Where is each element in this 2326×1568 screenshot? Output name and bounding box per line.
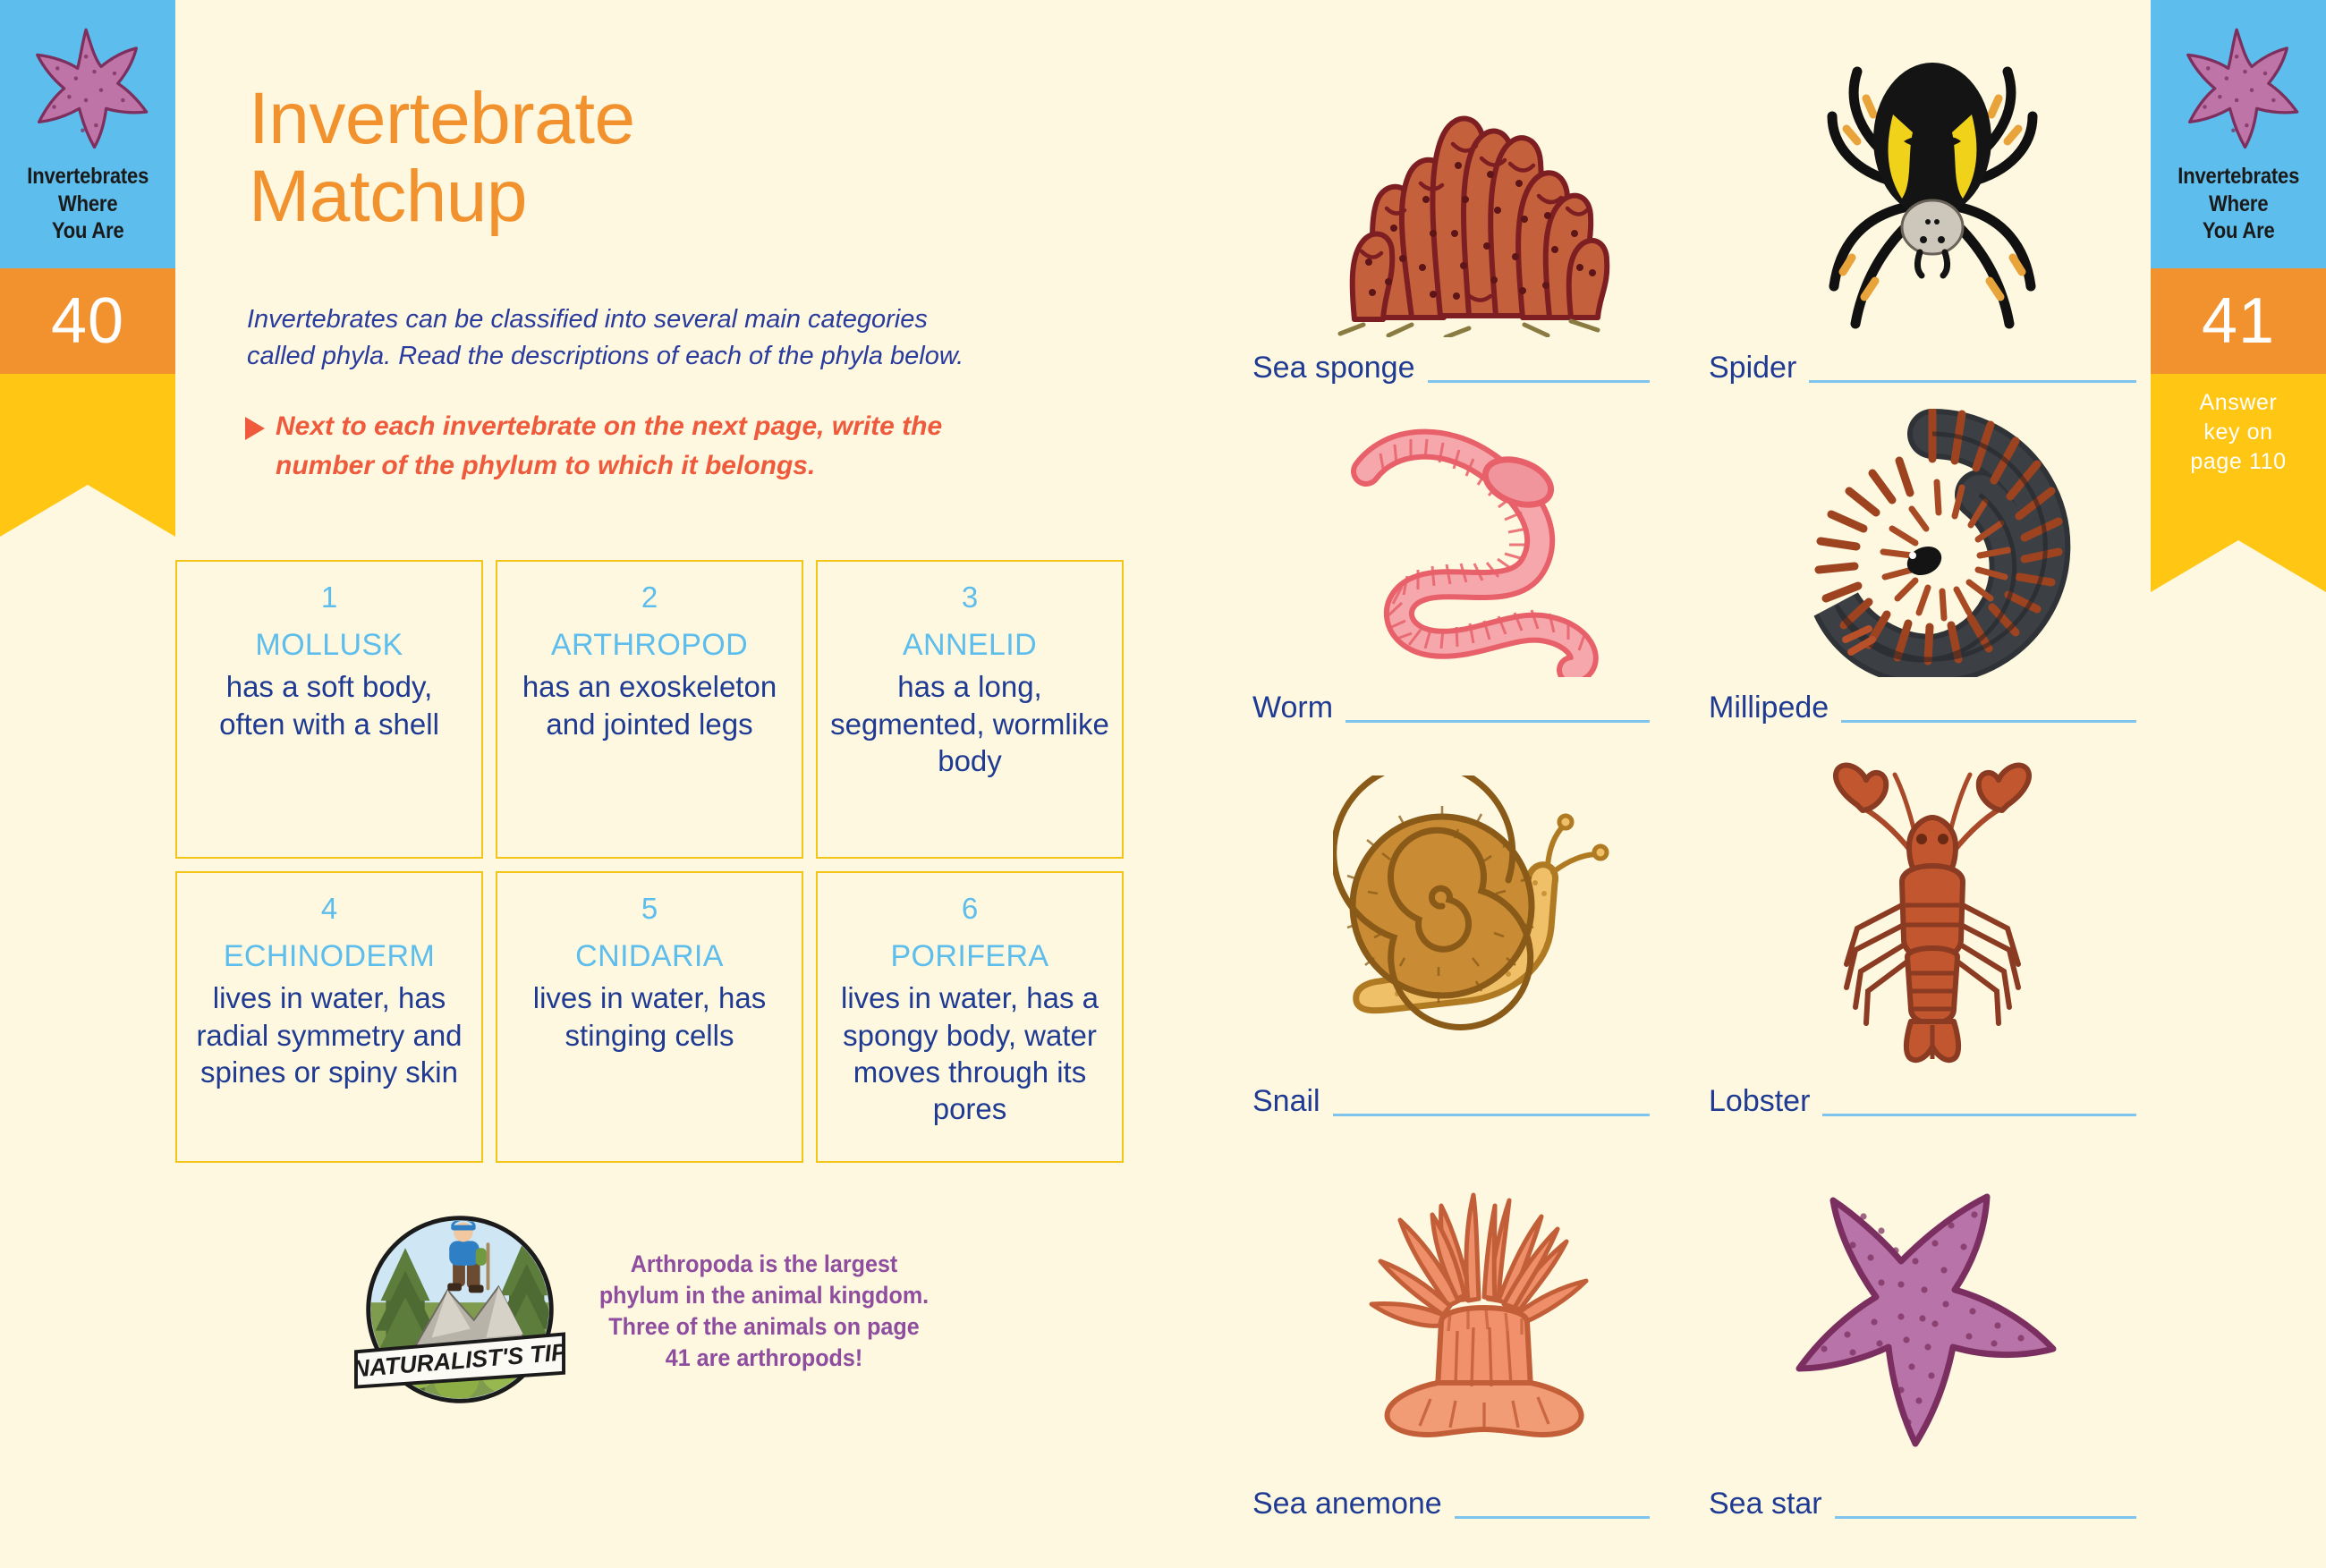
answer-row-sea-anemone: Sea anemone (1252, 1488, 1709, 1530)
phylum-card-5: 5 CNIDARIA lives in water, has stinging … (496, 871, 803, 1163)
animal-item-sea-anemone: Sea anemone (1252, 1127, 1709, 1530)
answer-row-sea-sponge: Sea sponge (1252, 352, 1709, 394)
left-tab-caption-line3: You Are (27, 217, 149, 245)
phylum-number: 1 (190, 581, 469, 614)
answer-row-snail: Snail (1252, 1086, 1709, 1127)
right-page-number: 41 (2202, 289, 2275, 353)
animal-item-spider: Spider (1709, 18, 2156, 394)
left-page-number: 40 (51, 289, 124, 353)
right-tab-caption-line3: You Are (2177, 217, 2299, 245)
answer-input-sea-sponge[interactable] (1428, 377, 1651, 383)
hiker-on-mountain-badge-icon: NATURALIST'S TIP (354, 1206, 565, 1417)
phylum-description: lives in water, has radial symmetry and … (190, 979, 469, 1090)
animal-item-sea-star: Sea star (1709, 1127, 2156, 1530)
sea-star-illustration (1709, 1127, 2156, 1488)
right-page-tab: Invertebrates Where You Are 41 Answer ke… (2151, 0, 2326, 540)
left-page-tab: Invertebrates Where You Are 40 (0, 0, 175, 485)
right-tab-caption-line2: Where (2177, 191, 2299, 218)
phylum-number: 6 (830, 893, 1109, 925)
intro-paragraph: Invertebrates can be classified into sev… (247, 301, 989, 375)
sea-sponge-illustration (1252, 18, 1709, 352)
answer-input-spider[interactable] (1809, 377, 2136, 383)
answer-key-ribbon: Answer key on page 110 (2151, 374, 2326, 540)
earthworm-illustration (1252, 394, 1709, 692)
answer-row-worm: Worm (1252, 692, 1709, 733)
answer-row-lobster: Lobster (1709, 1086, 2156, 1127)
answer-key-line2: key on (2190, 418, 2286, 447)
snail-illustration (1252, 733, 1709, 1086)
phylum-description: has an exoskeleton and jointed legs (510, 668, 789, 742)
answer-input-worm[interactable] (1346, 717, 1650, 723)
phylum-description: has a long, segmented, wormlike body (830, 668, 1109, 779)
page-title-line1: Invertebrate (249, 81, 635, 158)
left-page: Invertebrate Matchup Invertebrates can b… (175, 0, 1159, 1568)
phylum-card-3: 3 ANNELID has a long, segmented, wormlik… (816, 560, 1124, 859)
left-tab-ribbon (0, 374, 175, 485)
animal-item-lobster: Lobster (1709, 733, 2156, 1127)
animal-label-sea-anemone: Sea anemone (1252, 1488, 1442, 1519)
spider-illustration (1709, 18, 2156, 352)
animal-label-spider: Spider (1709, 352, 1796, 383)
right-page-number-block: 41 (2151, 268, 2326, 374)
animal-label-snail: Snail (1252, 1086, 1320, 1116)
animal-item-worm: Worm (1252, 394, 1709, 733)
animal-label-lobster: Lobster (1709, 1086, 1810, 1116)
phylum-number: 5 (510, 893, 789, 925)
sea-star-icon (20, 20, 156, 154)
answer-row-millipede: Millipede (1709, 692, 2156, 733)
phylum-name: PORIFERA (830, 939, 1109, 974)
answer-key-note: Answer key on page 110 (2190, 388, 2286, 477)
animal-item-sea-sponge: Sea sponge (1252, 18, 1709, 394)
naturalists-tip-text: Arthropoda is the largest phylum in the … (598, 1249, 930, 1374)
page-title: Invertebrate Matchup (249, 81, 635, 236)
instruction-text: Next to each invertebrate on the next pa… (276, 407, 997, 485)
phylum-name: ARTHROPOD (510, 628, 789, 663)
left-tab-caption-line2: Where (27, 191, 149, 218)
left-tab-caption: Invertebrates Where You Are (27, 163, 149, 245)
animal-label-worm: Worm (1252, 692, 1333, 723)
arrow-bullet-icon (245, 417, 265, 440)
phylum-description: has a soft body, often with a shell (190, 668, 469, 742)
answer-input-snail[interactable] (1333, 1111, 1650, 1116)
right-page: Sea sponge (1235, 0, 2156, 1568)
right-tab-caption-line1: Invertebrates (2177, 163, 2299, 191)
page-title-line2: Matchup (249, 158, 635, 236)
left-tab-caption-line1: Invertebrates (27, 163, 149, 191)
animal-label-sea-sponge: Sea sponge (1252, 352, 1415, 383)
answer-input-sea-star[interactable] (1835, 1513, 2136, 1519)
right-tab-header: Invertebrates Where You Are (2151, 0, 2326, 268)
animal-label-sea-star: Sea star (1709, 1488, 1822, 1519)
invertebrate-matchup-grid: Sea sponge (1252, 18, 2156, 1530)
phylum-number: 2 (510, 581, 789, 614)
right-tab-caption: Invertebrates Where You Are (2177, 163, 2299, 245)
phylum-description: lives in water, has stinging cells (510, 979, 789, 1054)
phylum-card-4: 4 ECHINODERM lives in water, has radial … (175, 871, 483, 1163)
answer-row-sea-star: Sea star (1709, 1488, 2156, 1530)
animal-label-millipede: Millipede (1709, 692, 1829, 723)
left-page-number-block: 40 (0, 268, 175, 374)
phylum-description: lives in water, has a spongy body, water… (830, 979, 1109, 1127)
phylum-card-1: 1 MOLLUSK has a soft body, often with a … (175, 560, 483, 859)
answer-key-line3: page 110 (2190, 447, 2286, 477)
phylum-number: 4 (190, 893, 469, 925)
answer-row-spider: Spider (1709, 352, 2156, 394)
answer-key-line1: Answer (2190, 388, 2286, 418)
instruction-line: Next to each invertebrate on the next pa… (245, 407, 997, 485)
phylum-number: 3 (830, 581, 1109, 614)
phylum-card-2: 2 ARTHROPOD has an exoskeleton and joint… (496, 560, 803, 859)
answer-input-sea-anemone[interactable] (1455, 1513, 1650, 1519)
answer-input-lobster[interactable] (1822, 1111, 2136, 1116)
phylum-name: ECHINODERM (190, 939, 469, 974)
left-tab-header: Invertebrates Where You Are (0, 0, 175, 268)
sea-star-icon (2170, 20, 2306, 154)
phylum-name: CNIDARIA (510, 939, 789, 974)
phylum-name: MOLLUSK (190, 628, 469, 663)
answer-input-millipede[interactable] (1841, 717, 2136, 723)
millipede-illustration (1709, 394, 2156, 692)
phyla-grid: 1 MOLLUSK has a soft body, often with a … (175, 560, 1124, 1163)
sea-anemone-illustration (1252, 1127, 1709, 1488)
animal-item-millipede: Millipede (1709, 394, 2156, 733)
phylum-name: ANNELID (830, 628, 1109, 663)
phylum-card-6: 6 PORIFERA lives in water, has a spongy … (816, 871, 1124, 1163)
animal-item-snail: Snail (1252, 733, 1709, 1127)
lobster-illustration (1709, 733, 2156, 1086)
naturalists-tip: NATURALIST'S TIP Arthropoda is the large… (354, 1206, 943, 1417)
